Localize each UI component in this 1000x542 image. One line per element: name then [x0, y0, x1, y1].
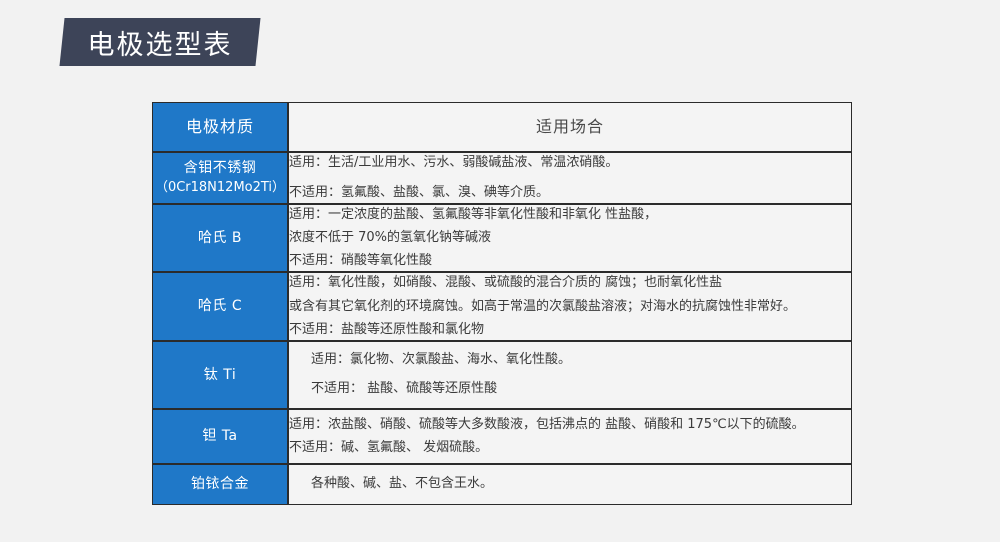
application-line: 适用：生活/工业用水、污水、弱酸碱盐液、常温浓硝酸。: [289, 153, 851, 173]
page-title-banner: 电极选型表: [62, 18, 262, 66]
cell-material: 哈氏 C: [152, 272, 288, 340]
table-row: 含钼不锈钢 （0Cr18N12Mo2Ti） 适用：生活/工业用水、污水、弱酸碱盐…: [152, 152, 852, 204]
application-line: 不适用：碱、氢氟酸、 发烟硫酸。: [289, 438, 851, 458]
application-line: 适用：浓盐酸、硝酸、硫酸等大多数酸液，包括沸点的 盐酸、硝酸和 175℃以下的硫…: [289, 415, 851, 435]
cell-material: 铂铱合金: [152, 464, 288, 505]
material-name: 钽 Ta: [202, 428, 237, 444]
material-name: 含钼不锈钢: [184, 160, 257, 176]
column-header-material: 电极材质: [152, 102, 288, 152]
cell-material: 哈氏 B: [152, 204, 288, 272]
application-line: 浓度不低于 70%的氢氧化钠等碱液: [289, 228, 851, 248]
application-line: 适用：氯化物、次氯酸盐、海水、氧化性酸。: [311, 350, 851, 370]
material-code: （0Cr18N12Mo2Ti）: [153, 179, 287, 198]
cell-material: 钽 Ta: [152, 409, 288, 464]
table-row: 哈氏 B 适用：一定浓度的盐酸、氢氟酸等非氧化性酸和非氧化 性盐酸， 浓度不低于…: [152, 204, 852, 272]
cell-application: 适用：浓盐酸、硝酸、硫酸等大多数酸液，包括沸点的 盐酸、硝酸和 175℃以下的硫…: [288, 409, 852, 464]
cell-material: 含钼不锈钢 （0Cr18N12Mo2Ti）: [152, 152, 288, 204]
application-line: 不适用： 盐酸、硫酸等还原性酸: [311, 379, 851, 399]
table-row: 哈氏 C 适用：氧化性酸，如硝酸、混酸、或硫酸的混合介质的 腐蚀；也耐氧化性盐 …: [152, 272, 852, 340]
electrode-selection-table: 电极材质 适用场合 含钼不锈钢 （0Cr18N12Mo2Ti） 适用：生活/工业…: [152, 102, 852, 505]
application-line: 或含有其它氧化剂的环境腐蚀。如高于常温的次氯酸盐溶液；对海水的抗腐蚀性非常好。: [289, 297, 851, 317]
cell-application: 适用：氧化性酸，如硝酸、混酸、或硫酸的混合介质的 腐蚀；也耐氧化性盐 或含有其它…: [288, 272, 852, 340]
table-row: 铂铱合金 各种酸、碱、盐、不包含王水。: [152, 464, 852, 505]
application-line: 适用：氧化性酸，如硝酸、混酸、或硫酸的混合介质的 腐蚀；也耐氧化性盐: [289, 273, 851, 293]
material-name: 铂铱合金: [191, 476, 249, 492]
table-row: 钛 Ti 适用：氯化物、次氯酸盐、海水、氧化性酸。 不适用： 盐酸、硫酸等还原性…: [152, 341, 852, 409]
application-line: 不适用：氢氟酸、盐酸、氯、溴、碘等介质。: [289, 183, 851, 203]
table-header-row: 电极材质 适用场合: [152, 102, 852, 152]
material-name: 哈氏 C: [198, 298, 242, 314]
column-header-application: 适用场合: [288, 102, 852, 152]
cell-material: 钛 Ti: [152, 341, 288, 409]
electrode-selection-table-wrap: 电极材质 适用场合 含钼不锈钢 （0Cr18N12Mo2Ti） 适用：生活/工业…: [152, 102, 852, 505]
application-line: 不适用：盐酸等还原性酸和氯化物: [289, 320, 851, 340]
application-line: 各种酸、碱、盐、不包含王水。: [311, 474, 851, 494]
application-line: 不适用：硝酸等氧化性酸: [289, 251, 851, 271]
cell-application: 适用：生活/工业用水、污水、弱酸碱盐液、常温浓硝酸。 不适用：氢氟酸、盐酸、氯、…: [288, 152, 852, 204]
table-row: 钽 Ta 适用：浓盐酸、硝酸、硫酸等大多数酸液，包括沸点的 盐酸、硝酸和 175…: [152, 409, 852, 464]
cell-application: 各种酸、碱、盐、不包含王水。: [288, 464, 852, 505]
material-name: 哈氏 B: [198, 230, 242, 246]
page-title: 电极选型表: [62, 18, 258, 66]
material-name: 钛 Ti: [204, 367, 236, 383]
application-line: 适用：一定浓度的盐酸、氢氟酸等非氧化性酸和非氧化 性盐酸，: [289, 205, 851, 225]
cell-application: 适用：一定浓度的盐酸、氢氟酸等非氧化性酸和非氧化 性盐酸， 浓度不低于 70%的…: [288, 204, 852, 272]
cell-application: 适用：氯化物、次氯酸盐、海水、氧化性酸。 不适用： 盐酸、硫酸等还原性酸: [288, 341, 852, 409]
